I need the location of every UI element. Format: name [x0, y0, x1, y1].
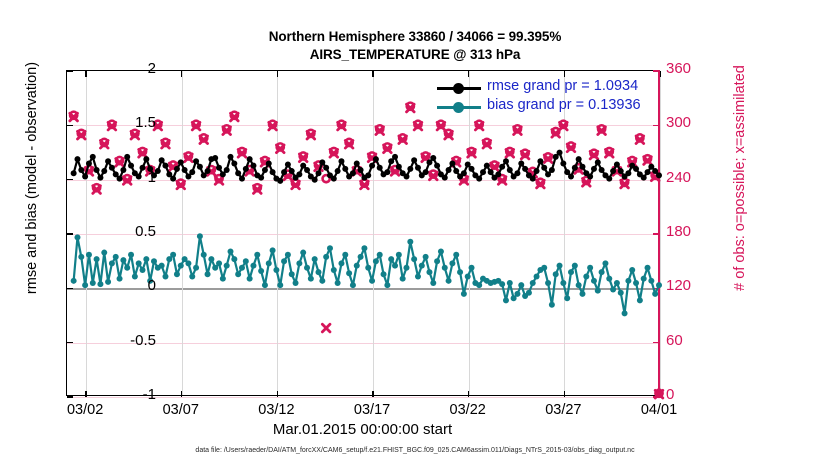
- series-point: [403, 173, 409, 179]
- series-point: [159, 157, 165, 163]
- series-point: [266, 260, 272, 266]
- series-point: [338, 158, 344, 164]
- series-point: [568, 173, 574, 179]
- series-point: [572, 263, 578, 269]
- series-point: [384, 169, 390, 175]
- series-point: [331, 267, 337, 273]
- series-point: [507, 280, 513, 286]
- series-point: [327, 245, 333, 251]
- legend-marker-rmse: [453, 83, 464, 94]
- series-point: [281, 258, 287, 264]
- series-point: [495, 171, 501, 177]
- series-point: [270, 247, 276, 253]
- series-point: [71, 170, 77, 176]
- series-point: [342, 252, 348, 258]
- series-point: [335, 280, 341, 286]
- series-point: [419, 263, 425, 269]
- series-point: [358, 167, 364, 173]
- series-point: [143, 156, 149, 162]
- series-point: [564, 295, 570, 301]
- series-point: [476, 176, 482, 182]
- series-point: [484, 163, 490, 169]
- series-point: [373, 156, 379, 162]
- series-point: [205, 168, 211, 174]
- series-point: [606, 276, 612, 282]
- series-point: [518, 160, 524, 166]
- series-point: [86, 160, 92, 166]
- series-point: [610, 287, 616, 293]
- series-point: [361, 245, 367, 251]
- series-point: [189, 273, 195, 279]
- left-axis-tick-label: 1: [96, 169, 156, 186]
- series-point: [560, 160, 566, 166]
- series-point: [300, 250, 306, 256]
- series-point: [90, 154, 96, 160]
- series-point: [182, 167, 188, 173]
- right-axis-tick-label: 120: [666, 277, 726, 294]
- series-point: [541, 165, 547, 171]
- series-point: [637, 297, 643, 303]
- x-axis-title: Mar.01.2015 00:00:00 start: [66, 421, 659, 438]
- series-point: [231, 256, 237, 262]
- series-point: [346, 270, 352, 276]
- series-point: [534, 168, 540, 174]
- series-point: [514, 170, 520, 176]
- series-point: [549, 302, 555, 308]
- left-axis-title: rmse and bias (model - observation): [24, 13, 40, 343]
- series-point: [614, 280, 620, 286]
- vertical-gridline: [660, 71, 661, 395]
- series-point: [453, 252, 459, 258]
- series-point: [247, 276, 253, 282]
- series-point: [82, 282, 88, 288]
- series-point: [101, 250, 107, 256]
- series-point: [312, 256, 318, 262]
- series-point: [534, 273, 540, 279]
- series-point: [526, 290, 532, 296]
- chart-figure: Northern Hemisphere 33860 / 34066 = 99.3…: [0, 0, 830, 470]
- series-point: [645, 169, 651, 175]
- series-point: [277, 282, 283, 288]
- series-point: [488, 169, 494, 175]
- series-point: [365, 172, 371, 178]
- series-point: [423, 254, 429, 260]
- series-point: [415, 165, 421, 171]
- series-point: [235, 271, 241, 277]
- series-point: [323, 165, 329, 171]
- series-point: [377, 252, 383, 258]
- series-point: [530, 176, 536, 182]
- series-point: [304, 167, 310, 173]
- series-point: [541, 265, 547, 271]
- series-point: [446, 278, 452, 284]
- series-point: [480, 169, 486, 175]
- series-point: [622, 310, 628, 316]
- series-point: [338, 260, 344, 266]
- series-point: [522, 166, 528, 172]
- series-point: [583, 273, 589, 279]
- series-point: [645, 265, 651, 271]
- series-point: [82, 173, 88, 179]
- series-point: [224, 167, 230, 173]
- series-point: [453, 168, 459, 174]
- series-point: [476, 282, 482, 288]
- series-point: [591, 166, 597, 172]
- series-point: [557, 263, 563, 269]
- series-point: [254, 252, 260, 258]
- series-point: [354, 263, 360, 269]
- series-point: [243, 258, 249, 264]
- series-point: [105, 158, 111, 164]
- series-point: [514, 291, 520, 297]
- series-point: [599, 269, 605, 275]
- series-point: [365, 265, 371, 271]
- series-point: [469, 265, 475, 271]
- series-point: [373, 258, 379, 264]
- chart-title-line1: Northern Hemisphere 33860 / 34066 = 99.3…: [0, 29, 830, 44]
- series-point: [228, 154, 234, 160]
- series-point: [239, 176, 245, 182]
- series-point: [185, 260, 191, 266]
- series-point: [595, 288, 601, 294]
- right-axis-tick-label: 240: [666, 169, 726, 186]
- series-point: [178, 263, 184, 269]
- series-point: [78, 254, 84, 260]
- left-axis-tick-label: -0.5: [96, 332, 156, 349]
- series-point: [587, 265, 593, 271]
- series-point: [331, 176, 337, 182]
- series-point: [90, 280, 96, 286]
- series-point: [193, 265, 199, 271]
- obs-assimilated-marker: [322, 324, 330, 332]
- x-axis-tick-label: 03/07: [141, 402, 221, 418]
- x-axis-tick-label: 04/01: [619, 402, 699, 418]
- series-point: [446, 167, 452, 173]
- series-point: [625, 278, 631, 284]
- series-point: [250, 263, 256, 269]
- series-point: [426, 269, 432, 275]
- series-point: [407, 239, 413, 245]
- series-point: [369, 278, 375, 284]
- series-point: [407, 166, 413, 172]
- series-point: [247, 156, 253, 162]
- series-point: [316, 269, 322, 275]
- series-point: [228, 248, 234, 254]
- series-point: [201, 252, 207, 258]
- series-point: [224, 263, 230, 269]
- series-point: [629, 267, 635, 273]
- series-point: [461, 291, 467, 297]
- series-point: [591, 278, 597, 284]
- series-point: [434, 163, 440, 169]
- series-point: [392, 263, 398, 269]
- series-point: [656, 172, 662, 178]
- series-point: [442, 265, 448, 271]
- series-bias: [71, 233, 662, 316]
- left-axis-tick: [67, 396, 73, 397]
- x-axis-tick-label: 03/17: [332, 402, 412, 418]
- left-axis-tick-label: -1: [96, 386, 156, 403]
- series-point: [423, 169, 429, 175]
- series-point: [151, 258, 157, 264]
- series-point: [595, 159, 601, 165]
- series-point: [316, 170, 322, 176]
- series-point: [656, 282, 662, 288]
- series-point: [212, 155, 218, 161]
- series-point: [392, 154, 398, 160]
- series-point: [243, 166, 249, 172]
- series-point: [250, 163, 256, 169]
- series-point: [136, 260, 142, 266]
- series-point: [174, 166, 180, 172]
- right-axis-tick-label: 60: [666, 332, 726, 349]
- series-point: [342, 166, 348, 172]
- series-point: [499, 281, 505, 287]
- series-point: [599, 167, 605, 173]
- series-point: [289, 271, 295, 277]
- data-file-path: data file: /Users/raeder/DAI/ATM_forcXX/…: [0, 447, 830, 454]
- series-point: [86, 252, 92, 258]
- series-point: [178, 159, 184, 165]
- series-point: [618, 168, 624, 174]
- series-point: [170, 252, 176, 258]
- series-point: [258, 175, 264, 181]
- series-point: [384, 282, 390, 288]
- series-point: [377, 165, 383, 171]
- legend-label-bias: bias grand pr = 0.13936: [487, 97, 641, 113]
- series-point: [208, 256, 214, 262]
- series-point: [633, 166, 639, 172]
- right-axis-tick-label: 360: [666, 60, 726, 77]
- series-point: [266, 160, 272, 166]
- series-point: [220, 276, 226, 282]
- series-point: [235, 170, 241, 176]
- series-point: [549, 167, 555, 173]
- series-point: [449, 160, 455, 166]
- series-point: [503, 297, 509, 303]
- series-point: [197, 164, 203, 170]
- series-point: [461, 170, 467, 176]
- right-axis-tick-label: 300: [666, 114, 726, 131]
- series-point: [545, 280, 551, 286]
- series-point: [197, 233, 203, 239]
- series-point: [641, 175, 647, 181]
- series-point: [296, 171, 302, 177]
- series-point: [430, 280, 436, 286]
- series-point: [312, 177, 318, 183]
- series-point: [74, 156, 80, 162]
- legend-marker-bias: [453, 102, 464, 113]
- series-point: [319, 159, 325, 165]
- series-point: [216, 165, 222, 171]
- series-point: [120, 257, 126, 263]
- series-point: [216, 260, 222, 266]
- x-axis-tick-label: 03/27: [523, 402, 603, 418]
- series-point: [625, 170, 631, 176]
- series-point: [71, 278, 77, 284]
- series-point: [350, 170, 356, 176]
- series-point: [503, 158, 509, 164]
- right-axis-title: # of obs: o=possible; x=assimilated: [732, 13, 748, 343]
- series-point: [273, 267, 279, 273]
- series-point: [270, 169, 276, 175]
- left-axis-tick-label: 2: [96, 60, 156, 77]
- series-point: [381, 271, 387, 277]
- left-axis-tick-label: 0.5: [96, 223, 156, 240]
- series-point: [205, 271, 211, 277]
- series-point: [358, 254, 364, 260]
- series-point: [388, 256, 394, 262]
- series-point: [614, 162, 620, 168]
- series-point: [411, 157, 417, 163]
- series-point: [140, 267, 146, 273]
- series-point: [231, 160, 237, 166]
- series-point: [576, 156, 582, 162]
- series-point: [449, 260, 455, 266]
- series-point: [579, 164, 585, 170]
- series-point: [143, 256, 149, 262]
- series-point: [289, 168, 295, 174]
- series-point: [304, 265, 310, 271]
- series-point: [239, 265, 245, 271]
- series-point: [396, 252, 402, 258]
- series-point: [124, 154, 130, 160]
- legend-label-rmse: rmse grand pr = 1.0934: [487, 78, 638, 94]
- series-point: [579, 291, 585, 297]
- series-rmse: [71, 150, 662, 184]
- series-point: [602, 260, 608, 266]
- series-point: [319, 278, 325, 284]
- series-point: [641, 276, 647, 282]
- series-point: [285, 162, 291, 168]
- series-point: [162, 273, 168, 279]
- x-axis-tick-label: 03/02: [45, 402, 125, 418]
- series-point: [78, 167, 84, 173]
- series-point: [174, 271, 180, 277]
- left-axis-tick-label: 0: [96, 277, 156, 294]
- series-point: [293, 280, 299, 286]
- series-point: [415, 273, 421, 279]
- right-axis-tick-label: 180: [666, 223, 726, 240]
- series-point: [557, 150, 563, 156]
- series-point: [469, 166, 475, 172]
- series-point: [530, 280, 536, 286]
- series-point: [350, 282, 356, 288]
- series-point: [442, 175, 448, 181]
- series-point: [553, 271, 559, 277]
- series-point: [465, 273, 471, 279]
- series-point: [648, 278, 654, 284]
- series-point: [335, 168, 341, 174]
- series-point: [354, 160, 360, 166]
- series-point: [618, 290, 624, 296]
- series-point: [576, 282, 582, 288]
- series-point: [411, 256, 417, 262]
- series-point: [457, 269, 463, 275]
- series-point: [403, 265, 409, 271]
- series-point: [537, 158, 543, 164]
- series-point: [568, 269, 574, 275]
- series-point: [285, 252, 291, 258]
- series-point: [277, 178, 283, 184]
- series-point: [189, 169, 195, 175]
- series-point: [159, 263, 165, 269]
- series-point: [262, 282, 268, 288]
- series-point: [430, 155, 436, 161]
- series-point: [258, 268, 264, 274]
- right-axis-tick-label: 0: [666, 386, 726, 403]
- series-point: [262, 167, 268, 173]
- series-point: [170, 176, 176, 182]
- series-point: [518, 282, 524, 288]
- series-point: [296, 260, 302, 266]
- series-point: [281, 169, 287, 175]
- series-point: [560, 280, 566, 286]
- series-point: [610, 168, 616, 174]
- series-point: [94, 256, 100, 262]
- series-point: [400, 276, 406, 282]
- series-point: [572, 165, 578, 171]
- series-point: [652, 291, 658, 297]
- left-axis-tick-label: 1.5: [96, 114, 156, 131]
- series-point: [128, 252, 134, 258]
- series-point: [308, 276, 314, 282]
- series-point: [74, 234, 80, 240]
- series-point: [113, 254, 119, 260]
- series-point: [124, 265, 130, 271]
- series-point: [606, 176, 612, 182]
- series-point: [162, 163, 168, 169]
- series-point: [499, 164, 505, 170]
- series-point: [193, 158, 199, 164]
- x-axis-tick-label: 03/12: [236, 402, 316, 418]
- x-axis-tick-label: 03/22: [428, 402, 508, 418]
- series-point: [369, 163, 375, 169]
- series-point: [633, 280, 639, 286]
- series-point: [438, 248, 444, 254]
- series-point: [109, 260, 115, 266]
- series-point: [507, 167, 513, 173]
- series-point: [396, 164, 402, 170]
- series-point: [434, 258, 440, 264]
- series-point: [587, 173, 593, 179]
- series-point: [323, 254, 329, 260]
